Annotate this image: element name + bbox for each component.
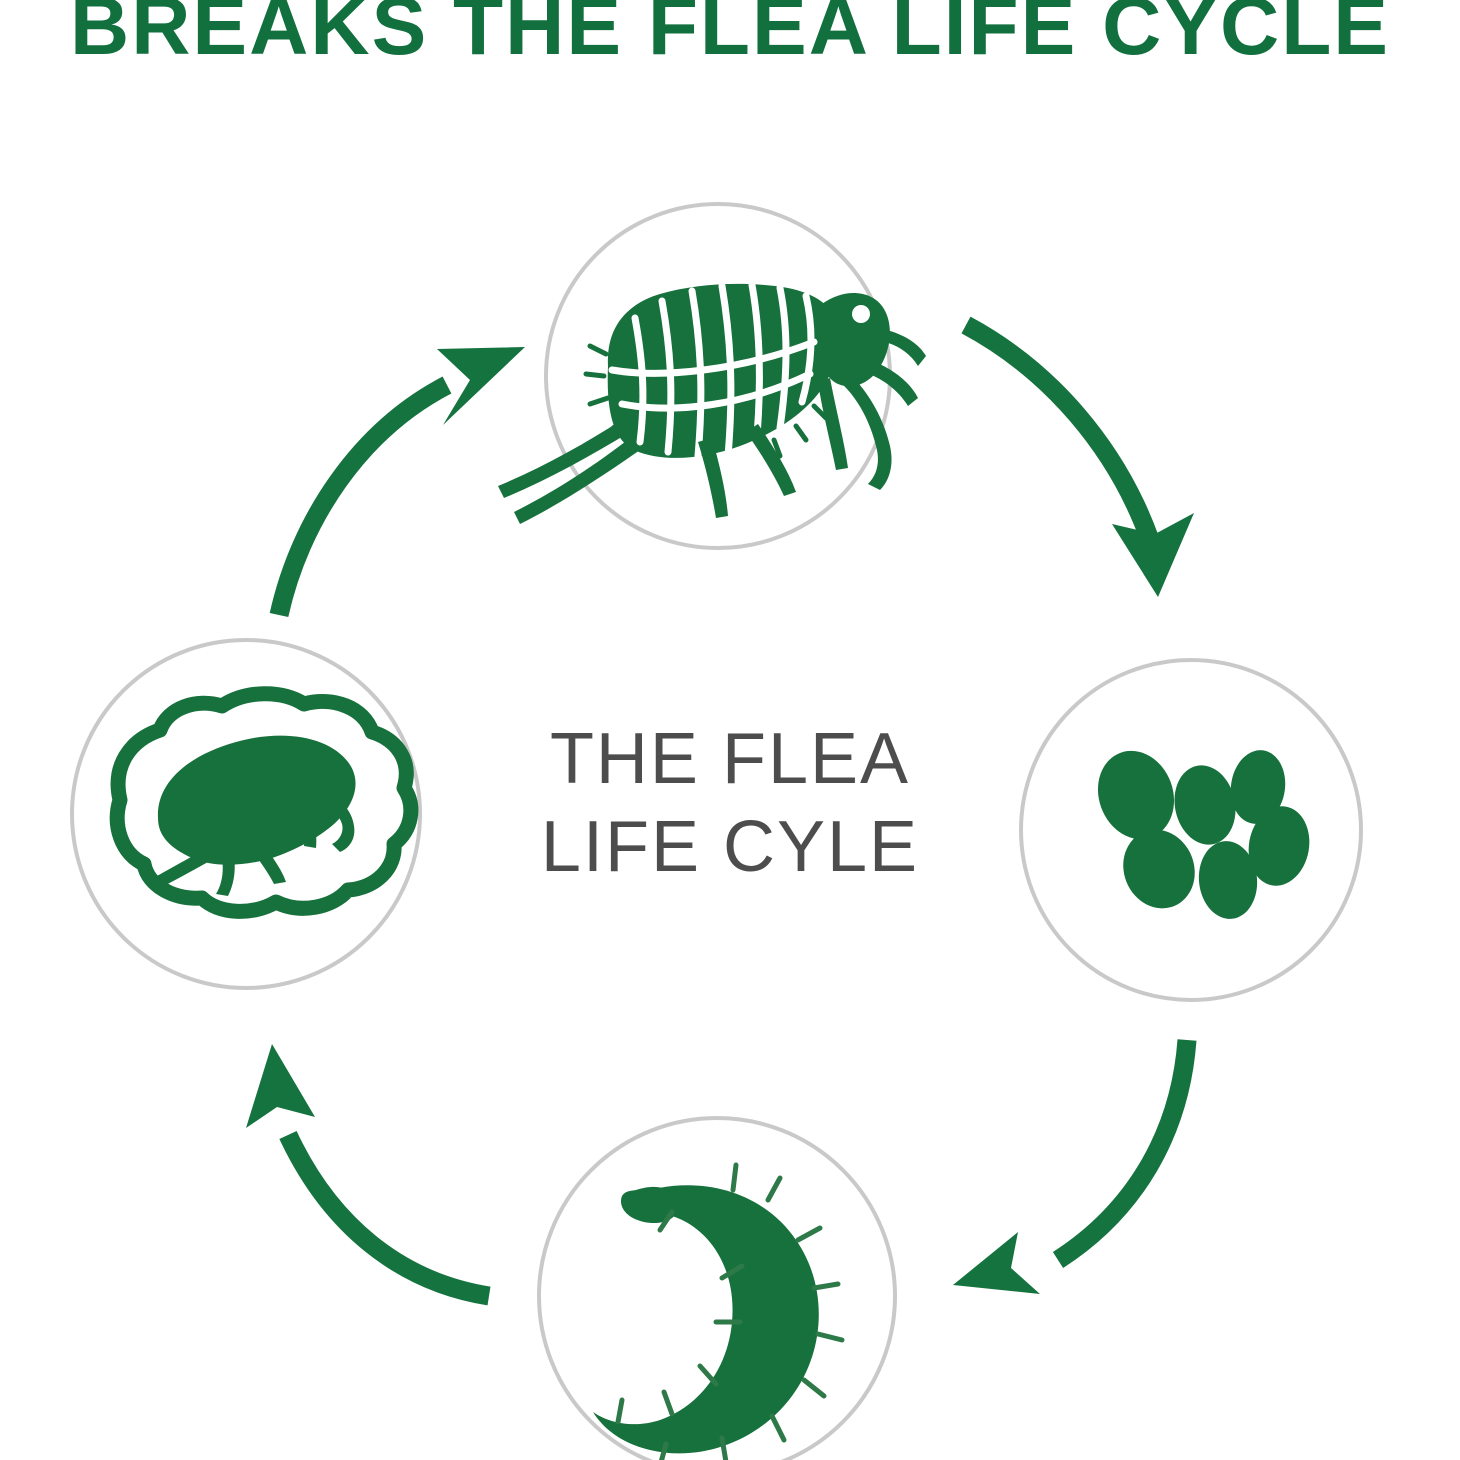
center-label: THE FLEA LIFE CYLE: [480, 716, 980, 892]
arrow-larva-to-pupa: [246, 1044, 489, 1296]
arrow-eggs-to-larva: [953, 1040, 1187, 1294]
arrow-adult-to-eggs: [966, 325, 1194, 597]
center-label-line-1: THE FLEA: [480, 716, 980, 804]
stage-larva[interactable]: [539, 1118, 895, 1460]
arrow-pupa-to-adult: [279, 347, 525, 615]
flea-life-cycle-infographic: BREAKS THE FLEA LIFE CYCLE: [0, 0, 1460, 1460]
stage-pupa[interactable]: [72, 640, 420, 988]
stage-eggs[interactable]: [1021, 660, 1361, 1000]
stage-adult-flea[interactable]: [498, 204, 926, 548]
center-label-line-2: LIFE CYLE: [480, 804, 980, 892]
